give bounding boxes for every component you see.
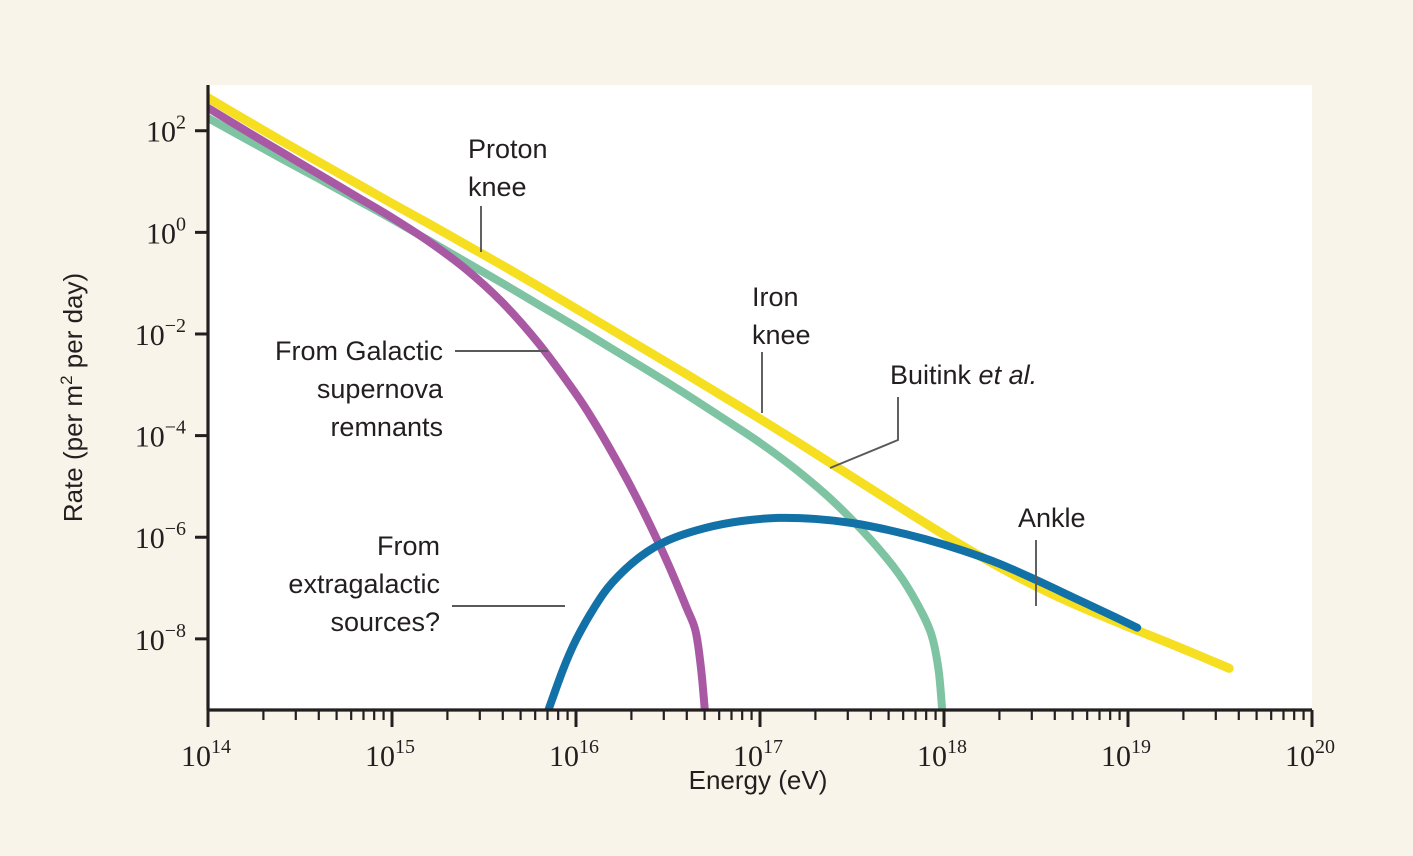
figure-root: 1014101510161017101810191020 10210010−21… (0, 0, 1413, 856)
annotation-line: knee (468, 172, 527, 202)
annotation-line: Iron (752, 282, 799, 312)
cosmic-ray-spectrum-chart: 1014101510161017101810191020 10210010−21… (0, 0, 1413, 856)
annotation-line: supernova (317, 374, 444, 404)
y-axis-title: Rate (per m2 per day) (57, 273, 88, 522)
annotation-line: Buitink et al. (890, 360, 1037, 390)
svg-text:Rate (per m2 per day): Rate (per m2 per day) (57, 273, 88, 522)
annotation-line: From (377, 531, 440, 561)
annotation-line: knee (752, 320, 811, 350)
annotation-line: From Galactic (275, 336, 443, 366)
annotation-line: sources? (330, 607, 440, 637)
annotation-line: extragalactic (288, 569, 440, 599)
annotation-line: Proton (468, 134, 548, 164)
annotation-line: Ankle (1018, 503, 1086, 533)
annotation-line: remnants (330, 412, 443, 442)
x-axis-title: Energy (eV) (689, 765, 828, 795)
